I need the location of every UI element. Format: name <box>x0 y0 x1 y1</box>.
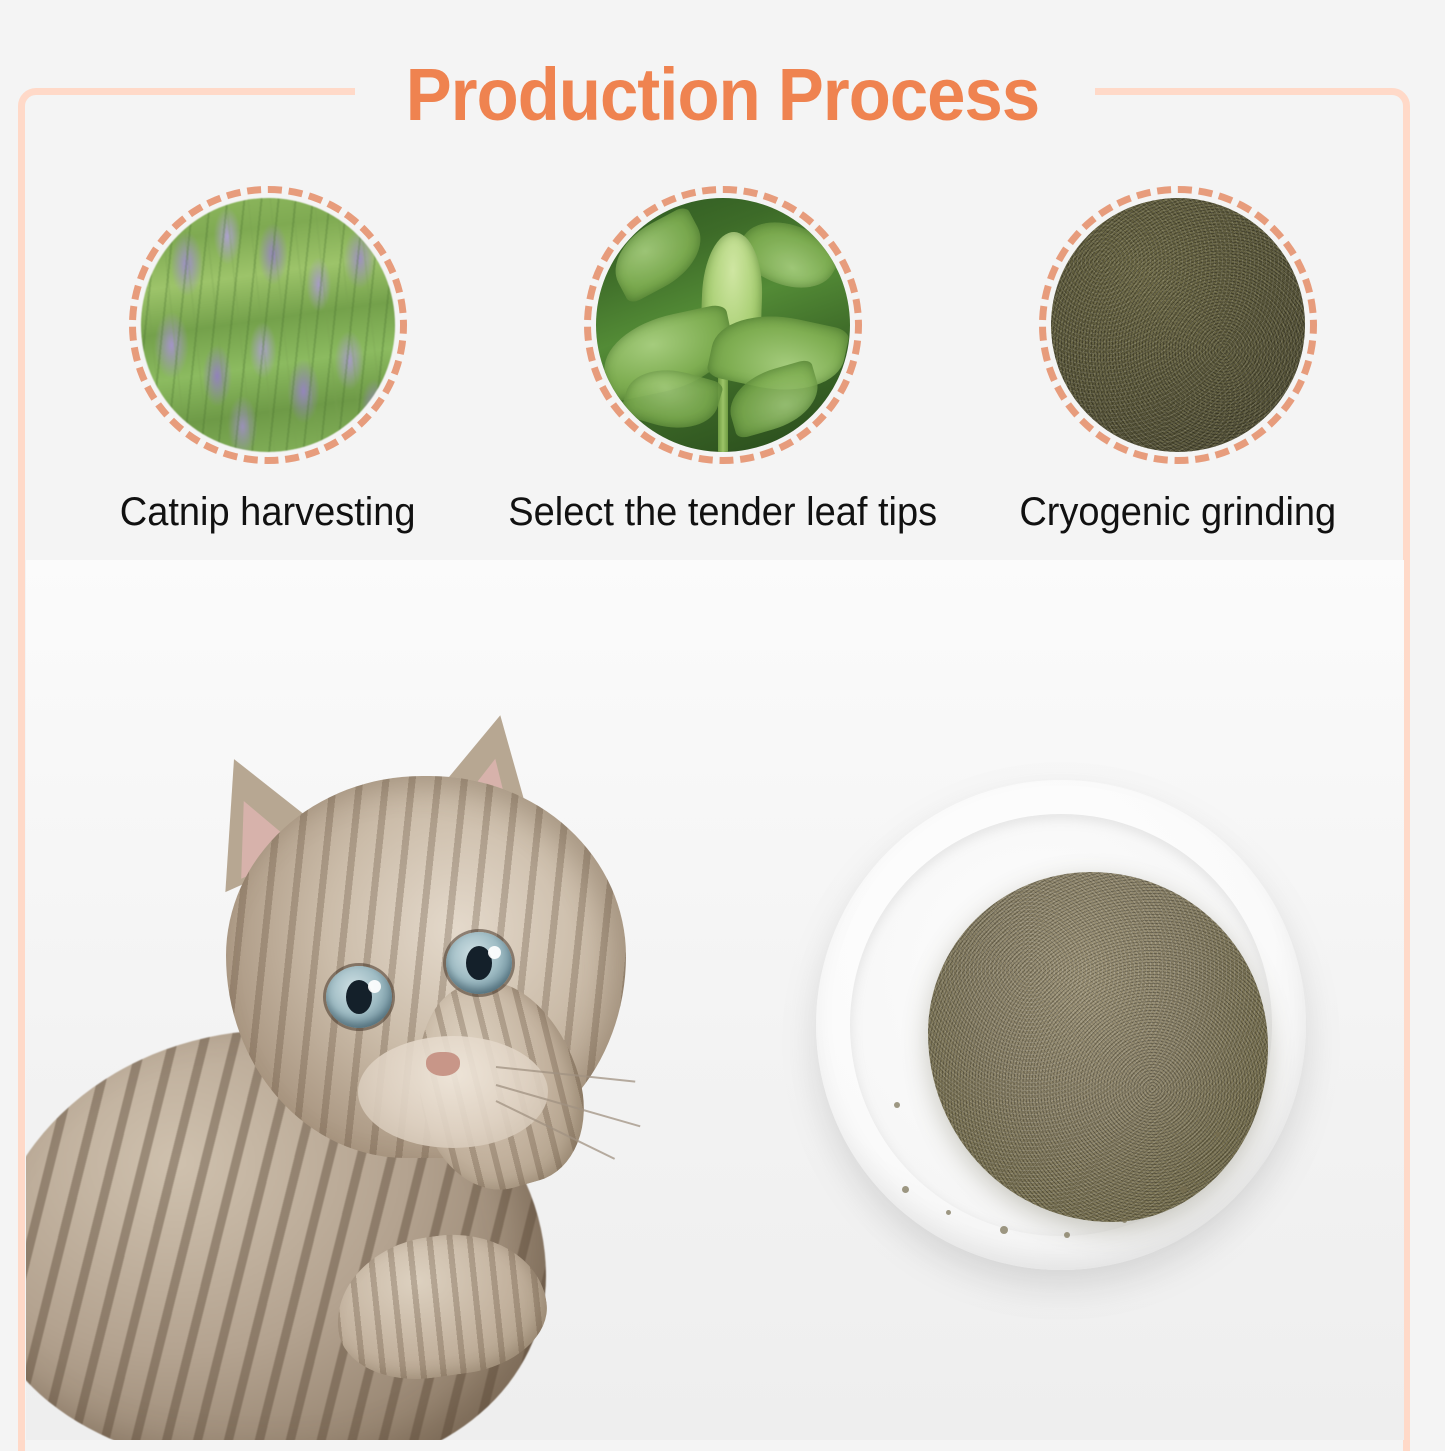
powder-scatter <box>1216 1132 1221 1137</box>
production-steps-row: Catnip harvesting Select the tender leaf… <box>0 186 1445 535</box>
catnip-powder-mound <box>928 872 1268 1222</box>
step-label-1: Catnip harvesting <box>120 490 416 535</box>
catnip-leaf-tip-photo <box>596 198 850 452</box>
page-title: Production Process <box>51 52 1395 137</box>
kitten-illustration <box>26 680 726 1440</box>
powder-scatter <box>1180 1186 1187 1193</box>
powder-scatter <box>1122 1218 1127 1223</box>
kitten-with-catnip-powder-photo <box>26 560 1404 1440</box>
kitten-nose <box>426 1052 460 1076</box>
catnip-field-photo <box>141 198 395 452</box>
powder-scatter <box>894 1102 900 1108</box>
kitten-eye-glint-right <box>488 946 501 959</box>
powder-scatter <box>1064 1232 1070 1238</box>
step-image-circle-1 <box>129 186 407 464</box>
plate-rim <box>850 814 1272 1236</box>
powder-scatter <box>946 1210 951 1215</box>
ground-catnip-powder-photo <box>1051 198 1305 452</box>
step-cryogenic-grinding: Cryogenic grinding <box>968 186 1388 535</box>
powder-scatter <box>902 1186 909 1193</box>
powder-scatter <box>1000 1226 1008 1234</box>
step-select-tender-leaf-tips: Select the tender leaf tips <box>513 186 933 535</box>
kitten-eye-glint-left <box>368 980 381 993</box>
leaf-shape <box>601 205 715 305</box>
step-image-circle-2 <box>584 186 862 464</box>
catnip-powder-plate <box>816 780 1306 1270</box>
step-image-circle-3 <box>1039 186 1317 464</box>
step-label-3: Cryogenic grinding <box>1019 490 1336 535</box>
step-catnip-harvesting: Catnip harvesting <box>58 186 478 535</box>
step-label-2: Select the tender leaf tips <box>508 490 937 535</box>
